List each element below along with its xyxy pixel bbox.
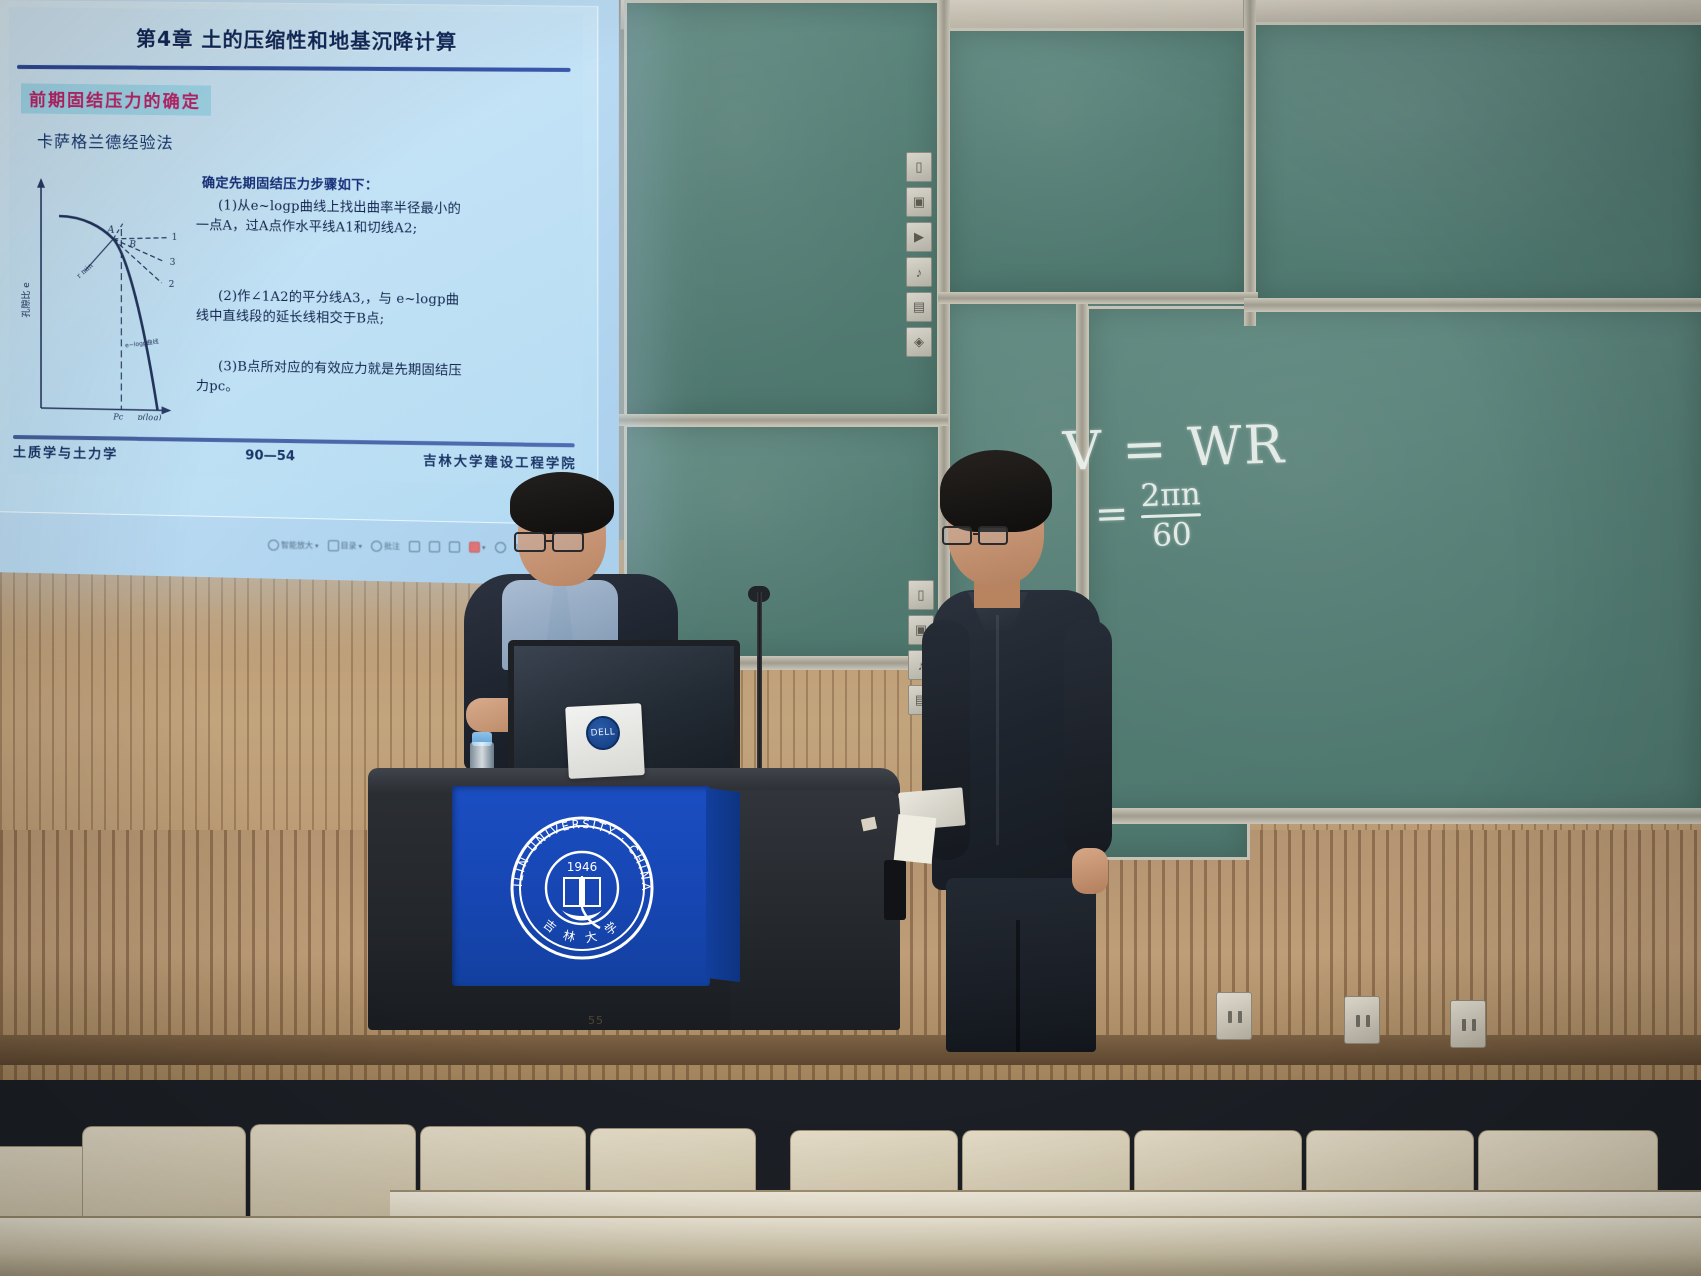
svg-text:p(log): p(log) [137, 413, 161, 421]
slide-footer-institution: 吉林大学建设工程学院 [423, 450, 577, 472]
svg-text:1: 1 [172, 233, 178, 243]
slide-paragraph-2: (2)作∠1A2的平分线A3,，与 e~logp曲线中直线段的延长线相交于B点; [196, 286, 462, 331]
standing-man-glasses-left [942, 526, 972, 545]
svg-text:3: 3 [170, 258, 176, 268]
seated-lecturer-glasses-right [552, 532, 584, 552]
desk-papers [894, 814, 937, 864]
svg-text:吉 林 大 学: 吉 林 大 学 [541, 916, 624, 945]
toolbar-label-smart-zoom: 智能放大 [281, 540, 313, 551]
standing-man-right-arm [1064, 620, 1112, 858]
jilin-university-logo: JILIN UNIVERSITY · CHINA 吉 林 大 学 1946 [506, 812, 658, 964]
toolbar-item-page[interactable] [409, 541, 420, 552]
toolbar-label-comment: 批注 [384, 541, 400, 552]
jilin-university-logo-svg: JILIN UNIVERSITY · CHINA 吉 林 大 学 1946 [506, 812, 658, 964]
board-frame-vertical-2 [1244, 0, 1256, 326]
slide-footer-page: 90—54 [245, 448, 295, 464]
switch-plate-column-upper[interactable]: ▯ ▣ ▶ ♪ ▤ ◈ [906, 152, 932, 357]
slide-section-heading: 前期固结压力的确定 [21, 83, 211, 115]
standing-man-hand [1072, 848, 1108, 894]
board-frame-horizontal-3 [618, 414, 948, 426]
student-seating-row [0, 1030, 1701, 1276]
slide-paragraph-1: (1)从e~logp曲线上找出曲率半径最小的一点A，过A点作水平线A1和切线A2… [196, 196, 462, 241]
list-icon [328, 540, 339, 551]
switch-plate-3[interactable]: ▶ [906, 222, 932, 252]
standing-man-legs [946, 878, 1096, 1052]
blackboard-right-main [1086, 306, 1701, 816]
slide-paragraph-3: (3)B点所对应的有效应力就是先期固结压力pc。 [196, 357, 462, 403]
board-chalk-tray [1080, 808, 1701, 824]
toolbar-item-outline[interactable]: 目录 ▾ [328, 540, 363, 551]
chalk-fraction: 2πn 60 [1140, 478, 1203, 552]
chevron-down-icon-2: ▾ [359, 542, 363, 550]
svg-text:B: B [128, 240, 136, 250]
standing-man-glasses-bridge [973, 533, 980, 535]
toolbar-label-outline: 目录 [341, 540, 357, 551]
blackboard-left [624, 0, 940, 420]
slide-body-heading: 确定先期固结压力步骤如下： [202, 172, 379, 194]
board-frame-horizontal-1 [938, 292, 1258, 304]
logo-chinese-name: 吉 林 大 学 [541, 916, 624, 945]
logo-year: 1946 [567, 860, 598, 874]
elogp-chart: A B 1 2 3 r min e~logp曲线 孔隙比 e Pc p(log) [21, 167, 192, 421]
switch-plate-2[interactable]: ▣ [906, 187, 932, 217]
svg-text:A: A [106, 225, 114, 236]
page-icon [409, 541, 420, 552]
podium-side-recess [884, 860, 906, 920]
slide-footer-course: 土质学与土力学 [13, 441, 118, 462]
svg-text:孔隙比 e: 孔隙比 e [21, 282, 32, 318]
presentation-slide: 第4章 土的压缩性和地基沉降计算 前期固结压力的确定 卡萨格兰德经验法 [0, 0, 598, 525]
seated-lecturer-hair [510, 472, 614, 534]
lecture-hall-photo: V = WR = 2πn 60 ▯ ▣ ▶ ♪ ▤ ◈ ▯ ▣ ♪ ▤ 第4章 … [0, 0, 1701, 1276]
switch-plate-1[interactable]: ▯ [906, 152, 932, 182]
toolbar-item-comment[interactable]: 批注 [371, 541, 400, 552]
blackboard-center-upper [944, 28, 1250, 296]
seated-lecturer-glasses-left [514, 532, 546, 552]
switch-plate-4[interactable]: ♪ [906, 257, 932, 287]
student-desk-surface [0, 1216, 1701, 1276]
chalk-numerator: 2πn [1140, 478, 1201, 513]
podium-front-panel-side [706, 788, 740, 982]
magic-wand-icon [268, 540, 279, 551]
switch-plate-5[interactable]: ▤ [906, 292, 932, 322]
slide-subheading: 卡萨格兰德经验法 [37, 128, 174, 154]
seat-row-marker: 55 [588, 1014, 604, 1027]
elogp-chart-svg: A B 1 2 3 r min e~logp曲线 孔隙比 e Pc p(log) [21, 167, 192, 421]
board-frame-horizontal-2 [1244, 298, 1701, 312]
blackboard-right-upper [1252, 22, 1701, 304]
standing-man [912, 450, 1142, 1050]
standing-man-glasses-right [978, 526, 1008, 545]
chevron-down-icon-1: ▾ [315, 542, 319, 550]
comment-icon [371, 541, 382, 552]
switch-plate-6[interactable]: ◈ [906, 327, 932, 357]
standing-man-hair [940, 450, 1052, 532]
standing-man-shirt-placket [996, 615, 999, 845]
seated-lecturer-glasses-bridge [546, 540, 554, 542]
svg-text:r min: r min [75, 261, 95, 280]
microphone-stem [757, 592, 762, 782]
toolbar-item-smart-zoom[interactable]: 智能放大 ▾ [268, 540, 319, 552]
svg-text:e~logp曲线: e~logp曲线 [124, 337, 159, 349]
chalk-denominator: 60 [1141, 518, 1202, 553]
svg-text:2: 2 [169, 280, 175, 290]
